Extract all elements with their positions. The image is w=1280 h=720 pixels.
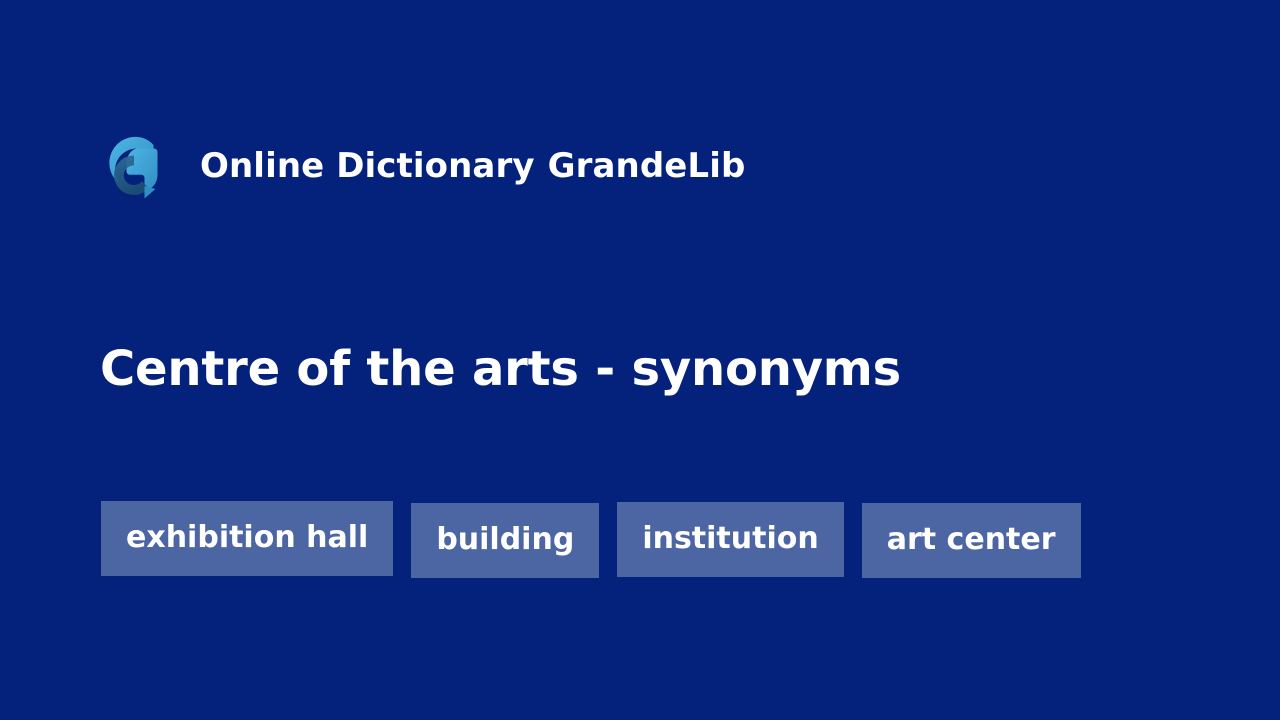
page-title: Centre of the arts - synonyms bbox=[100, 342, 901, 397]
brand-name-primary: Online Dictionary bbox=[200, 149, 535, 183]
brand-title: Online Dictionary GrandeLib bbox=[200, 149, 745, 183]
logo-tail bbox=[145, 186, 156, 199]
synonym-chip[interactable]: exhibition hall bbox=[101, 501, 393, 576]
logo-svg bbox=[100, 131, 170, 201]
synonym-chip[interactable]: building bbox=[411, 503, 599, 578]
brand-name-secondary: GrandeLib bbox=[548, 149, 746, 183]
synonym-chip[interactable]: institution bbox=[617, 502, 843, 577]
synonym-chip[interactable]: art center bbox=[862, 503, 1081, 578]
grandelib-g-logo-icon bbox=[100, 131, 170, 201]
brand-header[interactable]: Online Dictionary GrandeLib bbox=[100, 129, 745, 203]
page-root: Online Dictionary GrandeLib Centre of th… bbox=[0, 0, 1280, 720]
synonym-list: exhibition hall building institution art… bbox=[101, 501, 1181, 594]
